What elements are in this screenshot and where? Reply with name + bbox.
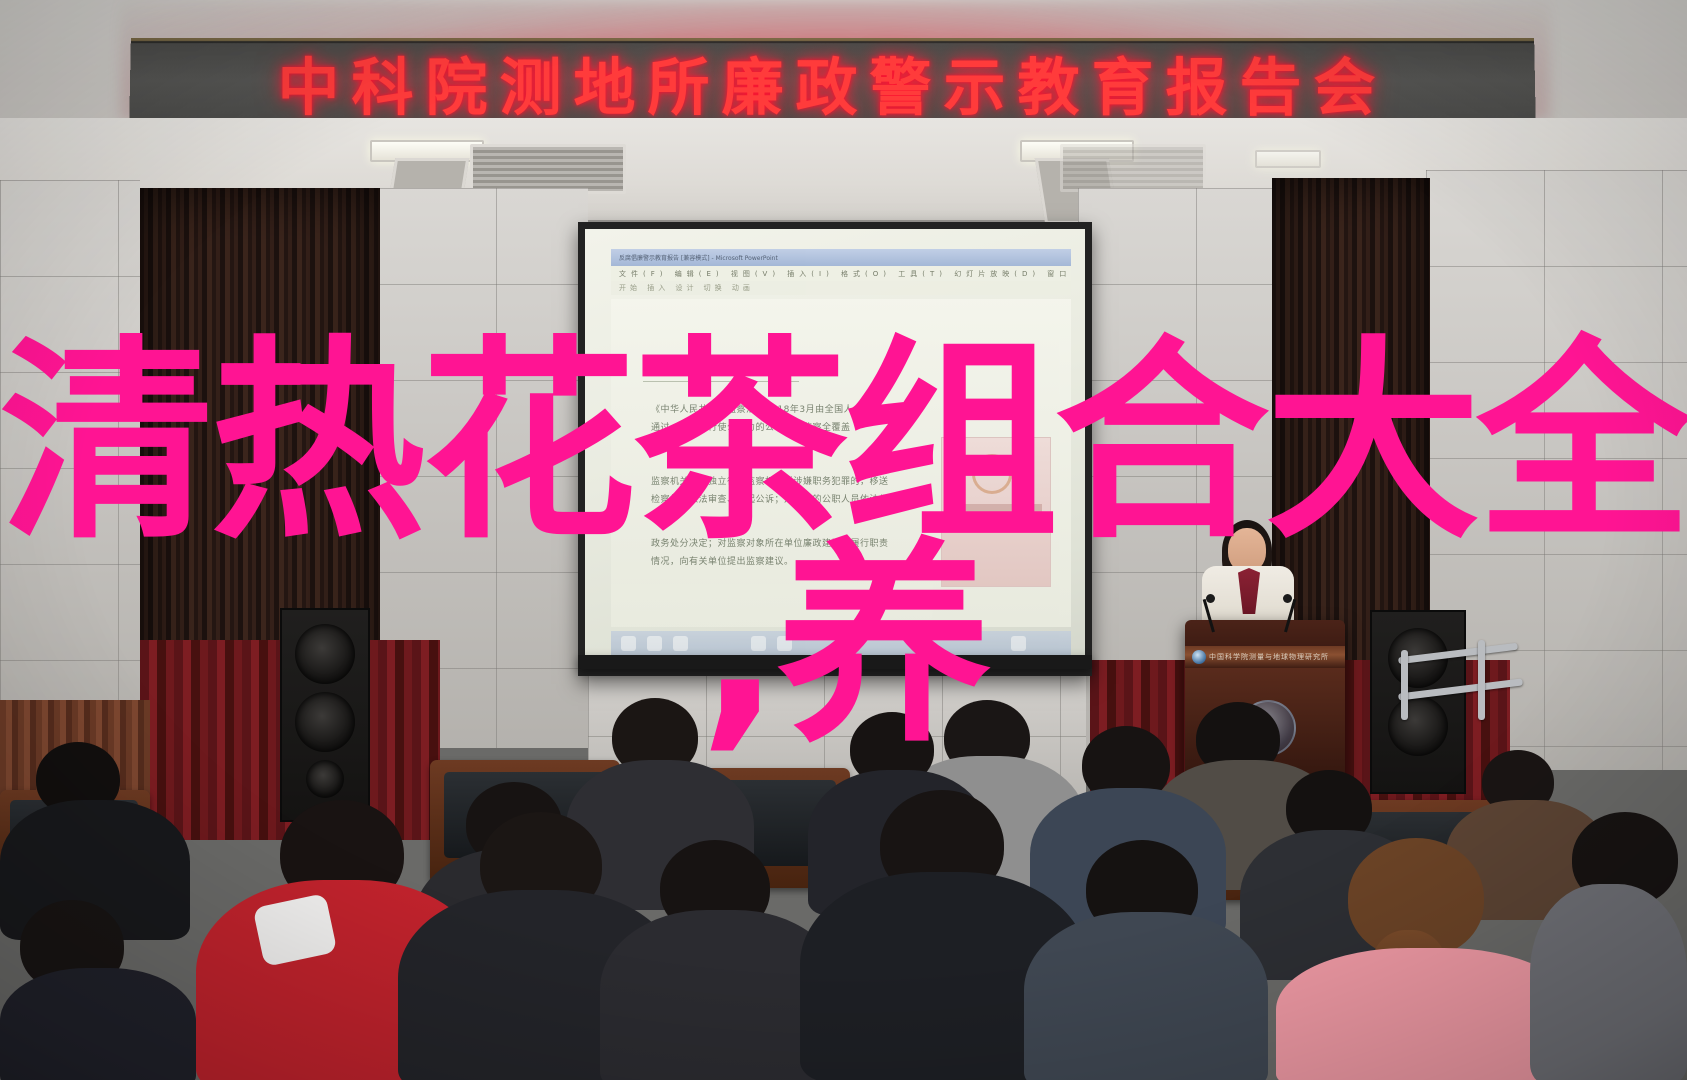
projection-screen: 反腐倡廉警示教育报告 [兼容模式] - Microsoft PowerPoint… bbox=[578, 222, 1092, 676]
microphone-head bbox=[1206, 594, 1215, 603]
slide-paragraph: 监察机关依法独立行使监察权，对涉嫌职务犯罪的，移送 bbox=[651, 475, 889, 489]
podium-nameplate: 中国科学院测量与地球物理研究所 bbox=[1185, 646, 1345, 668]
audience-member-torso bbox=[1530, 884, 1687, 1080]
audience-member-torso bbox=[0, 968, 196, 1080]
photo-canvas: 中科院测地所廉政警示教育报告会 反腐倡廉警示教育报告 [兼容模式] - Micr… bbox=[0, 0, 1687, 1080]
document-title-bar bbox=[952, 504, 1042, 512]
microphone-head bbox=[1283, 594, 1292, 603]
taskbar-icon bbox=[1011, 636, 1026, 651]
slide-paragraph: 情况，向有关单位提出监察建议。 bbox=[651, 555, 794, 569]
taskbar-icon bbox=[751, 636, 766, 651]
slide-app-titlebar: 反腐倡廉警示教育报告 [兼容模式] - Microsoft PowerPoint bbox=[611, 249, 1071, 266]
slide-heading: 一、反腐倡廉工作总体形势 bbox=[643, 361, 799, 382]
slide-app-menubar: 文件(F) 编辑(E) 视图(V) 插入(I) 格式(O) 工具(T) 幻灯片放… bbox=[611, 266, 1071, 281]
slide-document-image bbox=[941, 437, 1051, 587]
left-side-wall bbox=[0, 180, 140, 740]
audience-member-torso bbox=[1024, 912, 1268, 1080]
ceiling-strip-light bbox=[1255, 150, 1321, 168]
document-seal-icon bbox=[972, 454, 1012, 494]
slide-paragraph: 政务处分决定；对监察对象所在单位廉政建设和履行职责 bbox=[651, 537, 889, 551]
projection-screen-bottom-bar bbox=[578, 655, 1092, 669]
taskbar-icon bbox=[673, 636, 688, 651]
taskbar-icon bbox=[621, 636, 636, 651]
pa-speaker-left bbox=[280, 608, 370, 822]
slide-paragraph: 检察机关依法审查、提起公诉；对违法的公职人员依法作出 bbox=[651, 493, 898, 507]
slide-app-toolbar: 开始 插入 设计 切换 动画 bbox=[611, 281, 1071, 295]
ceiling-air-vent bbox=[470, 144, 626, 194]
projection-screen-surface: 反腐倡廉警示教育报告 [兼容模式] - Microsoft PowerPoint… bbox=[585, 229, 1085, 669]
slide-paragraph: 通过，对所有行使公权力的公职人员监察全覆盖 bbox=[651, 421, 851, 435]
slide-content-area: 一、反腐倡廉工作总体形势 《中华人民共和国监察法》2018年3月由全国人大会议表… bbox=[611, 299, 1071, 627]
stage-handrail-post bbox=[1401, 650, 1408, 720]
institute-emblem-icon bbox=[1192, 650, 1206, 664]
pa-speaker-right bbox=[1370, 610, 1466, 794]
stage-handrail-post bbox=[1478, 640, 1485, 720]
led-sign-text: 中科院测地所廉政警示教育报告会 bbox=[130, 38, 1535, 126]
taskbar-icon bbox=[777, 636, 792, 651]
podium-organization-text: 中国科学院测量与地球物理研究所 bbox=[1209, 652, 1329, 662]
taskbar-icon bbox=[647, 636, 662, 651]
ceiling-air-vent bbox=[1060, 144, 1206, 192]
slide-taskbar bbox=[611, 631, 1071, 657]
slide-paragraph: 《中华人民共和国监察法》2018年3月由全国人大会议表决 bbox=[651, 403, 901, 417]
